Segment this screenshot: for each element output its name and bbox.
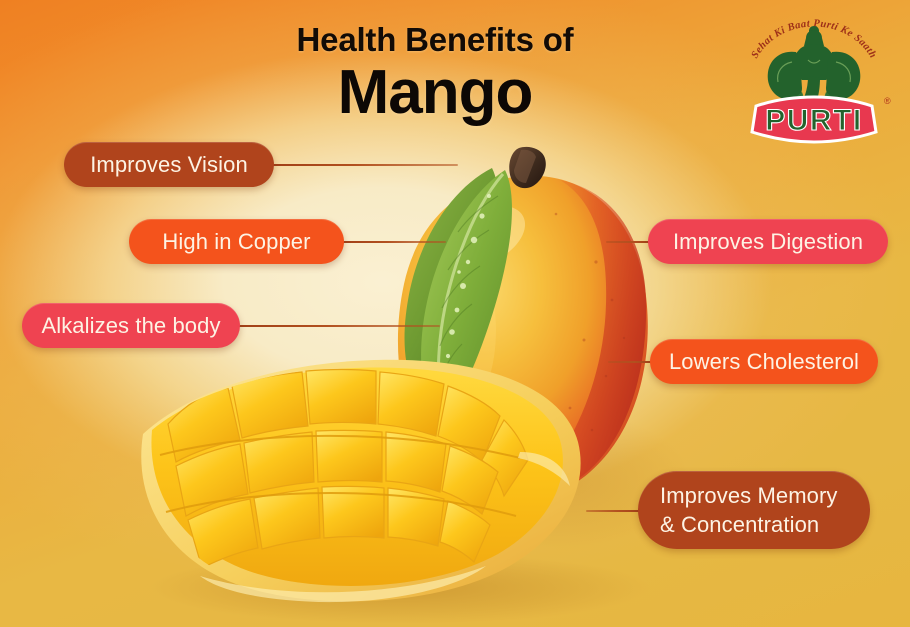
mango-leaf-icon: [405, 168, 512, 420]
benefit-label: Improves Vision: [90, 151, 248, 179]
connector-improves-vision: [268, 164, 458, 166]
benefit-label: Improves Digestion: [673, 228, 863, 256]
title-line-1: Health Benefits of: [200, 22, 670, 59]
benefit-improves-memory-concentration[interactable]: Improves Memory & Concentration: [638, 471, 870, 549]
logo-wordmark: PURTI: [752, 97, 876, 142]
logo-brand-text: PURTI: [765, 104, 863, 137]
registered-mark-icon: ®: [884, 96, 891, 106]
connector-high-in-copper: [338, 241, 446, 243]
benefit-label: High in Copper: [162, 228, 310, 256]
benefit-alkalizes-the-body[interactable]: Alkalizes the body: [22, 303, 240, 348]
benefit-improves-digestion[interactable]: Improves Digestion: [648, 219, 888, 264]
connector-improves-digestion: [606, 241, 654, 243]
connector-improves-memory: [586, 510, 644, 512]
benefit-label-line-2: & Concentration: [660, 510, 819, 539]
benefit-label: Alkalizes the body: [41, 312, 220, 340]
connector-lowers-cholesterol: [608, 361, 656, 363]
purti-logo[interactable]: Sehat Ki Baat Purti Ke Saath: [734, 8, 894, 144]
benefit-label: Lowers Cholesterol: [669, 348, 859, 376]
cut-mango-half: [141, 360, 580, 602]
benefit-lowers-cholesterol[interactable]: Lowers Cholesterol: [650, 339, 878, 384]
benefit-label-line-1: Improves Memory: [660, 481, 838, 510]
infographic-poster: Health Benefits of Mango Sehat Ki Baat P…: [0, 0, 910, 627]
page-title: Health Benefits of Mango: [200, 22, 670, 124]
benefit-improves-vision[interactable]: Improves Vision: [64, 142, 274, 187]
title-line-2: Mango: [200, 61, 670, 124]
benefit-high-in-copper[interactable]: High in Copper: [129, 219, 344, 264]
connector-alkalizes-the-body: [232, 325, 440, 327]
